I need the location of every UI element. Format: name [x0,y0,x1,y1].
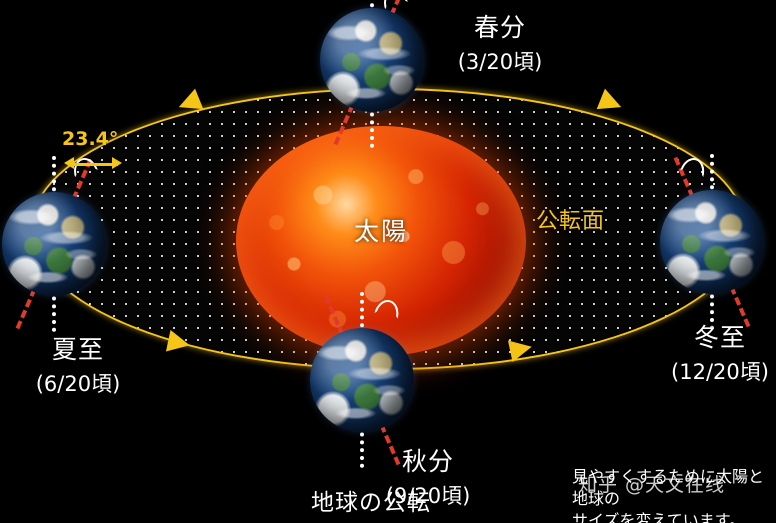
season-name-summer: 夏至 [0,330,168,366]
season-date-summer: (6/20頃) [0,368,168,398]
earth-summer-solstice [2,192,106,296]
sun-label: 太陽 [236,212,526,248]
label-winter-solstice: 冬至 (12/20頃) [630,318,776,386]
season-date-spring: (3/20頃) [410,46,590,76]
orbit-direction-arrow-top-right [597,89,626,118]
earth-winter-solstice [660,190,764,294]
orbital-plane-label: 公転面 [536,203,605,235]
axial-tilt-arrowhead-right [112,157,122,169]
earth-orbit-diagram: 太陽 春分 (3/20頃) 夏至 (6/20頃) 23.4° 秋分 (9/2 [0,0,776,523]
orbit-direction-arrow-bottom-left [166,330,192,356]
season-date-winter: (12/20頃) [630,356,776,386]
sun: 太陽 [236,126,526,356]
axial-tilt-angle-label: 23.4° [62,128,118,150]
scale-note: 見やすくするために太陽と地球の サイズを変えています。 [572,466,776,523]
label-summer-solstice: 夏至 (6/20頃) [0,330,168,398]
earth-autumn-equinox [310,328,414,432]
season-name-winter: 冬至 [630,318,776,354]
diagram-caption: 地球の公転 [311,483,431,517]
earth-clouds-winter [660,190,764,294]
earth-spring-equinox [320,8,424,112]
earth-clouds-autumn [310,328,414,432]
label-spring-equinox: 春分 (3/20頃) [410,8,590,76]
season-name-spring: 春分 [410,8,590,44]
season-name-autumn: 秋分 [338,442,518,478]
axial-tilt-arrowhead-left [64,157,74,169]
earth-clouds-summer [2,192,106,296]
earth-clouds-spring [320,8,424,112]
